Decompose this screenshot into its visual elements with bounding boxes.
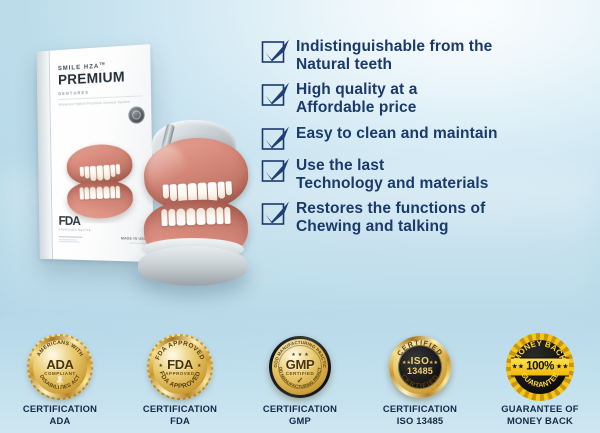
- gmp-star-icon: ★: [298, 352, 302, 358]
- checkbox-checked-icon: [262, 84, 286, 106]
- feature-item: Indistinguishable from the Natural teeth: [262, 38, 588, 74]
- fda-star-left-icon: ★: [159, 363, 163, 369]
- gmp-caption-line-2: GMP: [289, 415, 311, 426]
- certification-gmp: GOOD MANUFACTURING PRACTICE GOOD MANUFAC…: [240, 336, 360, 427]
- gmp-core-main: GMP: [286, 358, 315, 371]
- box-model: PREMIUM: [58, 69, 142, 88]
- feature-list: Indistinguishable from the Natural teeth…: [262, 38, 588, 243]
- gmp-badge-core: GMP CERTIFIED: [286, 358, 315, 376]
- feature-line-2: Affordable price: [296, 99, 416, 116]
- fda-badge-icon: FDA APPROVED FDA APPROVED ★ ★ FDA APPROV…: [149, 336, 211, 398]
- gmp-caption-line-1: CERTIFICATION: [263, 403, 337, 414]
- gmp-check-icon: ✓: [297, 376, 304, 385]
- feature-text: Indistinguishable from the Natural teeth: [296, 38, 492, 74]
- certification-ada: AMERICANS WITH DISABILITIES ACT ADA COMP…: [0, 336, 120, 427]
- svg-text:MONEY BACK: MONEY BACK: [512, 339, 568, 363]
- feature-text: High quality at a Affordable price: [296, 81, 417, 117]
- feature-line-1: Restores the functions of: [296, 200, 485, 217]
- money-back-caption-line-2: MONEY BACK: [507, 415, 573, 426]
- feature-item: Restores the functions of Chewing and ta…: [262, 200, 588, 236]
- gmp-badge-icon: GOOD MANUFACTURING PRACTICE GOOD MANUFAC…: [269, 336, 331, 398]
- iso-caption: CERTIFICATION ISO 13485: [360, 403, 480, 427]
- box-blurb: Advanced Hybrid Precision Denture System: [58, 100, 142, 108]
- feature-line-1: Easy to clean and maintain: [296, 125, 498, 142]
- feature-text: Easy to clean and maintain: [296, 125, 498, 143]
- promo-image: SMILE HZATM PREMIUM DENTURES Advanced Hy…: [0, 0, 600, 433]
- checkbox-checked-icon: [262, 203, 286, 225]
- gmp-caption: CERTIFICATION GMP: [240, 403, 360, 427]
- certification-money-back: MONEY BACK GUARANTEE ★★ 100% ★★ GUARANTE…: [480, 336, 600, 427]
- feature-line-1: Indistinguishable from the: [296, 38, 492, 55]
- feature-text: Restores the functions of Chewing and ta…: [296, 200, 485, 236]
- iso-core-main: ISO: [407, 357, 433, 368]
- trademark-symbol: TM: [99, 61, 104, 66]
- iso-badge-core: ISO 13485: [407, 357, 433, 377]
- money-back-caption-line-1: GUARANTEE OF: [501, 403, 578, 414]
- feature-line-2: Chewing and talking: [296, 218, 449, 235]
- certification-row: AMERICANS WITH DISABILITIES ACT ADA COMP…: [0, 336, 600, 427]
- box-fda-subtext: APPROVED DEVICE: [59, 228, 91, 232]
- iso-core-sub: 13485: [407, 367, 433, 376]
- svg-text:GUARANTEE: GUARANTEE: [519, 370, 561, 389]
- ada-caption-line-2: ADA: [50, 415, 71, 426]
- feature-text: Use the last Technology and materials: [296, 157, 488, 193]
- feature-line-2: Technology and materials: [296, 175, 488, 192]
- ada-badge-core: ADA COMPLIANT: [44, 358, 76, 376]
- box-denture-illustration: [62, 141, 136, 224]
- product-shot: SMILE HZATM PREMIUM DENTURES Advanced Hy…: [18, 36, 258, 276]
- box-lower-teeth: [67, 185, 133, 200]
- feature-line-1: High quality at a: [296, 81, 417, 98]
- checkbox-checked-icon: [262, 41, 286, 63]
- feature-item: Use the last Technology and materials: [262, 157, 588, 193]
- denture-lower-teeth: [143, 206, 248, 227]
- certification-iso: CERTIFIED CERTIFIED ★★ ★★ ISO 13485 CERT…: [360, 336, 480, 427]
- svg-text:CERTIFIED: CERTIFIED: [396, 340, 443, 358]
- ada-core-main: ADA: [44, 358, 76, 371]
- gmp-star-icon: ★: [304, 352, 308, 358]
- iso-caption-line-1: CERTIFICATION: [383, 403, 457, 414]
- iso-badge-icon: CERTIFIED CERTIFIED ★★ ★★ ISO 13485: [389, 336, 451, 398]
- denture-base: [138, 246, 248, 286]
- money-back-caption: GUARANTEE OF MONEY BACK: [480, 403, 600, 427]
- money-back-arc-text: MONEY BACK GUARANTEE: [509, 336, 571, 398]
- box-fda-logo: FDA APPROVED DEVICE: [58, 214, 91, 244]
- checkbox-checked-icon: [262, 160, 286, 182]
- fda-caption-line-1: CERTIFICATION: [143, 403, 217, 414]
- ada-badge-icon: AMERICANS WITH DISABILITIES ACT ADA COMP…: [29, 336, 91, 398]
- ada-caption-line-1: CERTIFICATION: [23, 403, 97, 414]
- fda-caption: CERTIFICATION FDA: [120, 403, 240, 427]
- iso-caption-line-2: ISO 13485: [397, 415, 444, 426]
- certification-fda: FDA APPROVED FDA APPROVED ★ ★ FDA APPROV…: [120, 336, 240, 427]
- feature-line-1: Use the last: [296, 157, 384, 174]
- svg-text:AMERICANS WITH: AMERICANS WITH: [36, 340, 84, 358]
- box-category: DENTURES: [58, 88, 142, 97]
- denture-model: [130, 114, 258, 286]
- feature-item: Easy to clean and maintain: [262, 125, 588, 150]
- box-fineprint: [59, 236, 91, 243]
- checkbox-checked-icon: [262, 128, 286, 150]
- fda-caption-line-2: FDA: [170, 415, 190, 426]
- fda-core-sub: APPROVED: [165, 372, 194, 376]
- ada-caption: CERTIFICATION ADA: [0, 403, 120, 427]
- box-fda-mark: FDA: [58, 214, 90, 227]
- fda-star-right-icon: ★: [197, 363, 201, 369]
- feature-item: High quality at a Affordable price: [262, 81, 588, 117]
- money-back-badge-icon: MONEY BACK GUARANTEE ★★ 100% ★★: [509, 336, 571, 398]
- gmp-star-icon: ★: [291, 352, 295, 358]
- feature-line-2: Natural teeth: [296, 56, 392, 73]
